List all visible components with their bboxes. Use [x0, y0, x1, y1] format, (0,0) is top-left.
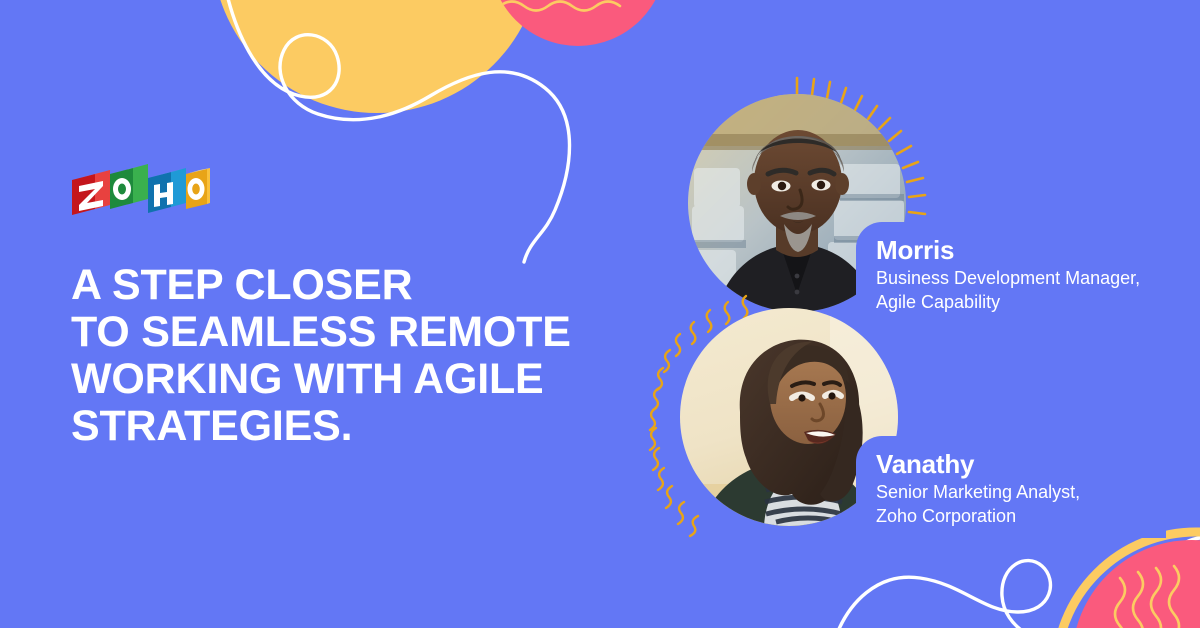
speaker-name: Vanathy	[876, 449, 1166, 479]
zoho-logo-letter-o1	[110, 164, 148, 209]
speaker-card-vanathy: Vanathy Senior Marketing Analyst, Zoho C…	[680, 308, 1160, 538]
pink-circle-bottom-right	[1072, 540, 1200, 628]
zoho-logo-letter-h	[148, 168, 186, 213]
pink-circle-top	[490, 0, 666, 46]
zoho-logo-letter-z	[72, 170, 110, 215]
headline-line-3: WORKING WITH AGILE	[71, 356, 671, 403]
pink-circle-top-waves	[500, 0, 636, 11]
headline-line-1: A STEP CLOSER	[71, 262, 671, 309]
headline-line-2: TO SEAMLESS REMOTE	[71, 309, 671, 356]
webinar-banner: A STEP CLOSER TO SEAMLESS REMOTE WORKING…	[0, 0, 1200, 628]
page-title: A STEP CLOSER TO SEAMLESS REMOTE WORKING…	[71, 262, 671, 450]
headline-line-4: STRATEGIES.	[71, 403, 671, 450]
white-swirl-top	[222, 0, 570, 262]
speaker-role-line-1: Senior Marketing Analyst,	[876, 480, 1166, 504]
zoho-logo[interactable]	[70, 161, 210, 219]
speaker-name: Morris	[876, 235, 1166, 265]
zoho-logo-letter-o2	[186, 168, 210, 209]
speaker-info-vanathy: Vanathy Senior Marketing Analyst, Zoho C…	[856, 436, 1166, 538]
pink-circle-bottom-waves	[1115, 566, 1179, 628]
speaker-role-line-2: Zoho Corporation	[876, 504, 1166, 528]
yellow-arc-bottom-right	[1056, 532, 1200, 628]
yellow-circle-top	[212, 0, 542, 113]
